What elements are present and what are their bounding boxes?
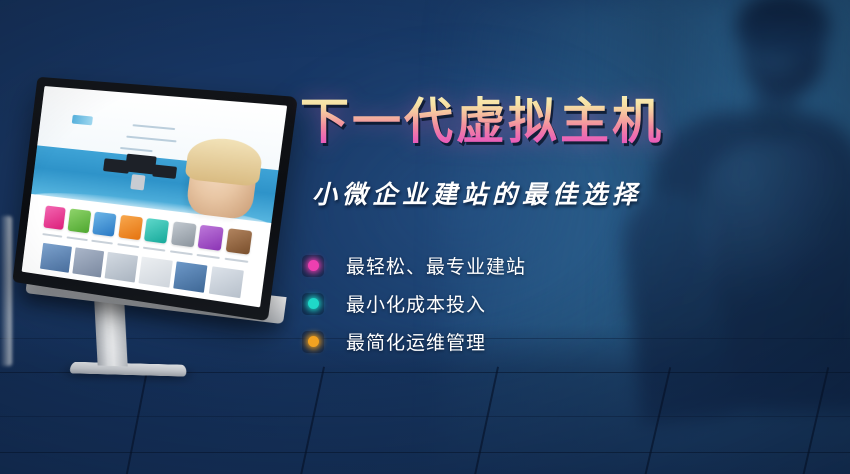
feature-label: 最小化成本投入 bbox=[346, 290, 486, 317]
bullet-dot-icon bbox=[302, 255, 324, 277]
list-item: 最小化成本投入 bbox=[302, 285, 830, 323]
hero-subtitle: 小微企业建站的最佳选择 bbox=[312, 175, 830, 211]
hero-banner: 下一代虚拟主机 小微企业建站的最佳选择 最轻松、最专业建站 最小化成本投入 最简… bbox=[0, 0, 850, 474]
bullet-dot-icon bbox=[302, 331, 324, 353]
feature-label: 最轻松、最专业建站 bbox=[346, 252, 526, 279]
hero-text-block: 下一代虚拟主机 小微企业建站的最佳选择 最轻松、最专业建站 最小化成本投入 最简… bbox=[300, 96, 830, 361]
bullet-dot-icon bbox=[302, 293, 324, 315]
hero-title: 下一代虚拟主机 bbox=[300, 96, 830, 149]
list-item: 最轻松、最专业建站 bbox=[302, 247, 830, 285]
feature-label: 最简化运维管理 bbox=[346, 328, 486, 355]
list-item: 最简化运维管理 bbox=[302, 323, 830, 361]
feature-list: 最轻松、最专业建站 最小化成本投入 最简化运维管理 bbox=[302, 247, 830, 361]
